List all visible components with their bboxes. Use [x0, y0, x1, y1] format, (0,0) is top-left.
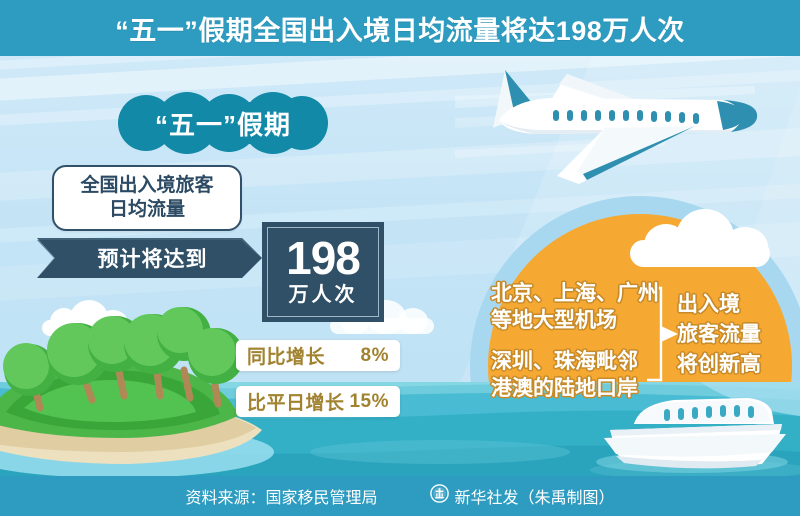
highlight-result-line1: 出入境 — [677, 290, 761, 320]
metric-label-line1: 全国出入境旅客 — [80, 174, 213, 198]
footer-bar: 资料来源：国家移民管理局 新华社发（朱禹制图） — [0, 476, 800, 516]
metric-label-line2: 日均流量 — [109, 198, 185, 222]
holiday-badge: “五一”假期 — [118, 92, 328, 154]
footer-source: 资料来源：国家移民管理局 — [185, 484, 377, 508]
forecast-ribbon: 预计将达到 — [37, 238, 262, 278]
stat-row: 比平日增长 15% — [236, 386, 400, 417]
title-bar: “五一”假期全国出入境日均流量将达198万人次 — [0, 0, 800, 56]
page-title: “五一”假期全国出入境日均流量将达198万人次 — [115, 9, 685, 48]
highlight-group-airports: 北京、上海、广州 等地大型机场 — [491, 280, 659, 335]
holiday-badge-label: “五一”假期 — [118, 92, 328, 154]
footer-credit: 新华社发（朱禹制图） — [430, 484, 615, 508]
highlight-landports-line1: 深圳、珠海毗邻 — [491, 348, 638, 375]
stat-value: 8% — [361, 345, 389, 367]
ferry-boat-icon — [596, 390, 796, 476]
highlight-airports-line2: 等地大型机场 — [491, 307, 659, 334]
infographic-poster: “五一”假期 全国出入境旅客 日均流量 预计将达到 198 万人次 同比增长 8… — [0, 0, 800, 516]
highlight-result: 出入境 旅客流量 将创新高 — [677, 290, 761, 379]
stat-label: 比平日增长 — [247, 388, 345, 415]
footer-credit-label: 新华社发（朱禹制图） — [455, 484, 615, 508]
metric-label-box: 全国出入境旅客 日均流量 — [52, 165, 242, 231]
forecast-ribbon-label: 预计将达到 — [37, 238, 262, 278]
highlight-airports-line1: 北京、上海、广州 — [491, 280, 659, 307]
stat-row: 同比增长 8% — [236, 340, 400, 371]
highlight-result-line2: 旅客流量 — [677, 320, 761, 350]
highlight-landports-line2: 港澳的陆地口岸 — [491, 375, 638, 402]
headline-value-unit: 万人次 — [289, 283, 358, 308]
xinhua-logo-icon — [430, 484, 449, 508]
stat-label: 同比增长 — [247, 342, 325, 369]
cloud-icon — [630, 207, 780, 267]
headline-value-block: 198 万人次 — [262, 222, 384, 322]
airplane-icon — [455, 58, 795, 188]
highlight-result-line3: 将创新高 — [677, 350, 761, 380]
island-illustration — [0, 288, 275, 478]
headline-value: 198 — [286, 236, 360, 281]
highlight-group-landports: 深圳、珠海毗邻 港澳的陆地口岸 — [491, 348, 638, 403]
stat-value: 15% — [349, 391, 389, 413]
